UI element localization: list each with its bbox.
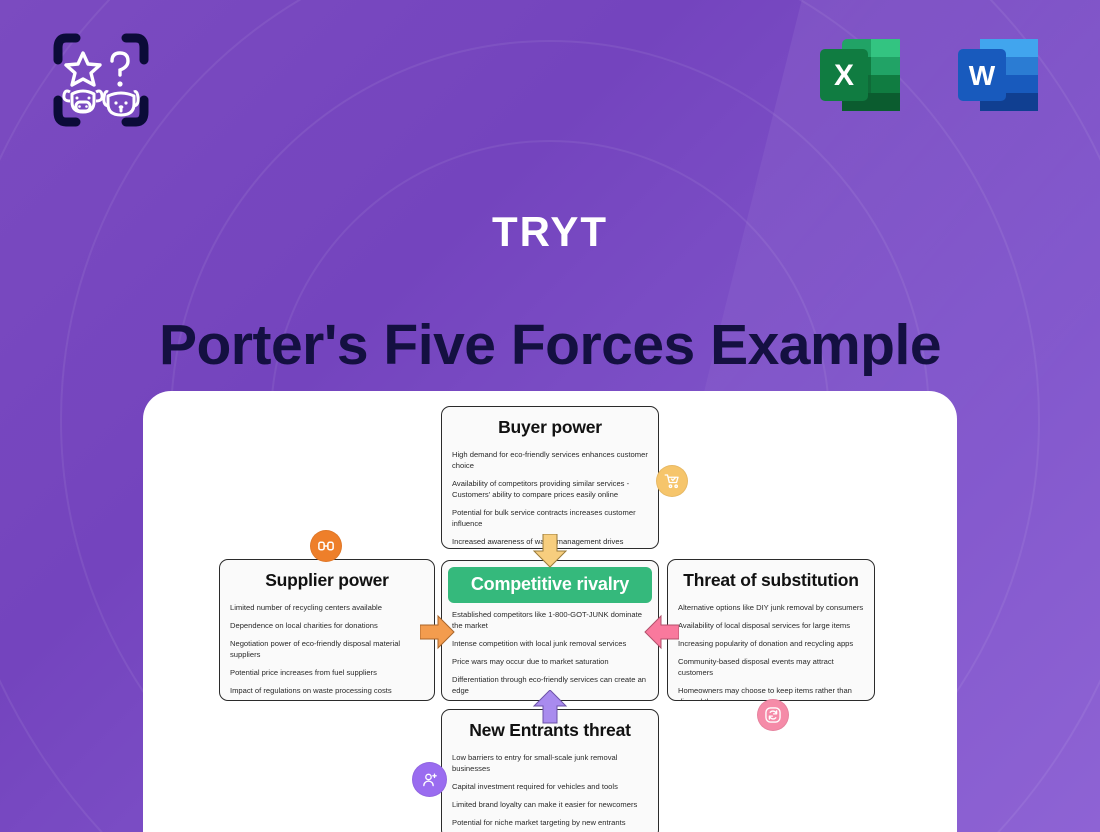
force-box-title: Buyer power — [442, 407, 658, 447]
list-item: Negotiation power of eco-friendly dispos… — [230, 638, 424, 660]
force-box-supplier-power[interactable]: Supplier power Limited number of recycli… — [219, 559, 435, 701]
list-item: Availability of competitors providing si… — [452, 478, 648, 500]
force-bullet-list: Low barriers to entry for small-scale ju… — [442, 750, 658, 832]
refresh-swap-icon[interactable] — [757, 699, 789, 731]
porters-five-forces-diagram: Buyer power High demand for eco-friendly… — [0, 0, 1100, 832]
list-item: Price wars may occur due to market satur… — [452, 656, 648, 667]
arrow-substitution-to-rivalry — [643, 612, 679, 652]
force-bullet-list: Alternative options like DIY junk remova… — [668, 600, 874, 701]
force-box-title: Threat of substitution — [668, 560, 874, 600]
list-item: Alternative options like DIY junk remova… — [678, 602, 864, 613]
link-chain-icon[interactable] — [310, 530, 342, 562]
force-box-new-entrants-threat[interactable]: New Entrants threat Low barriers to entr… — [441, 709, 659, 832]
list-item: Community-based disposal events may attr… — [678, 656, 864, 678]
shopping-cart-icon[interactable] — [656, 465, 688, 497]
list-item: Potential price increases from fuel supp… — [230, 667, 424, 678]
list-item: Increasing popularity of donation and re… — [678, 638, 864, 649]
list-item: Impact of regulations on waste processin… — [230, 685, 424, 696]
list-item: Intense competition with local junk remo… — [452, 638, 648, 649]
list-item: Low barriers to entry for small-scale ju… — [452, 752, 648, 774]
force-box-buyer-power[interactable]: Buyer power High demand for eco-friendly… — [441, 406, 659, 549]
arrow-supplier-to-rivalry — [420, 612, 456, 652]
force-box-title: Supplier power — [220, 560, 434, 600]
list-item: Potential for bulk service contracts inc… — [452, 507, 648, 529]
list-item: Potential for niche market targeting by … — [452, 817, 648, 828]
list-item: Limited number of recycling centers avai… — [230, 602, 424, 613]
force-box-threat-of-substitution[interactable]: Threat of substitution Alternative optio… — [667, 559, 875, 701]
list-item: Dependence on local charities for donati… — [230, 620, 424, 631]
list-item: Capital investment required for vehicles… — [452, 781, 648, 792]
list-item: High demand for eco-friendly services en… — [452, 449, 648, 471]
list-item: Established competitors like 1-800-GOT-J… — [452, 609, 648, 631]
arrow-buyer-to-rivalry — [530, 534, 570, 568]
arrow-entrants-to-rivalry — [530, 690, 570, 724]
force-box-competitive-rivalry[interactable]: Competitive rivalry Established competit… — [441, 560, 659, 701]
force-bullet-list: Established competitors like 1-800-GOT-J… — [442, 607, 658, 701]
list-item: Limited brand loyalty can make it easier… — [452, 799, 648, 810]
force-box-title: Competitive rivalry — [448, 567, 652, 603]
user-plus-icon[interactable] — [412, 762, 447, 797]
list-item: Availability of local disposal services … — [678, 620, 864, 631]
force-bullet-list: Limited number of recycling centers avai… — [220, 600, 434, 701]
